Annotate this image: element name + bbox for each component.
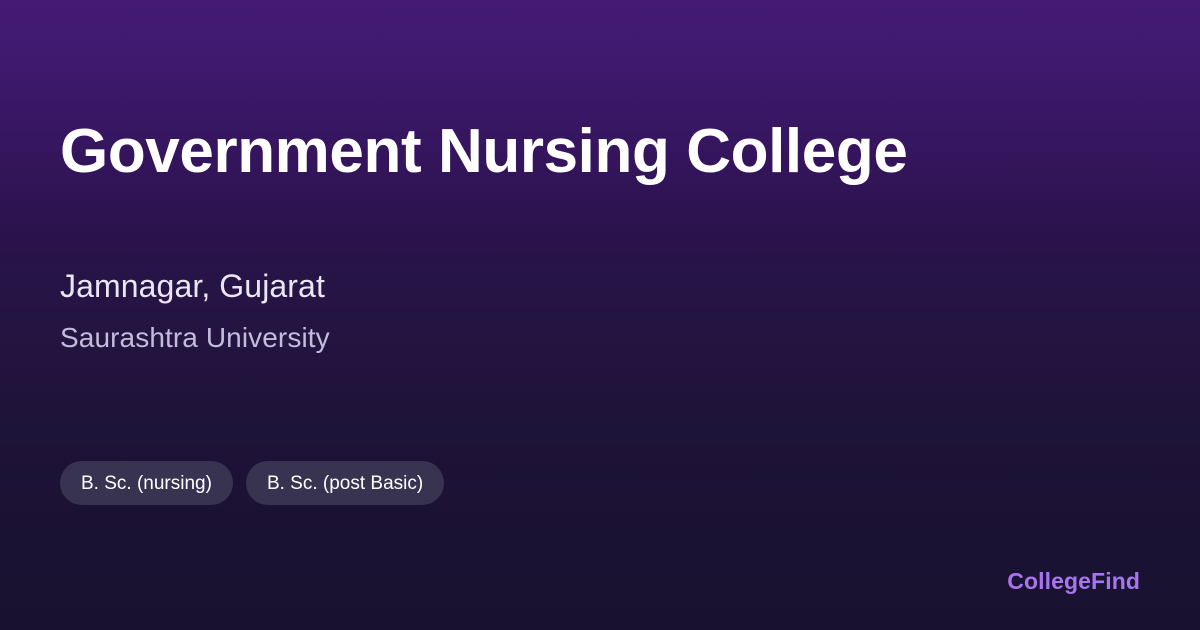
page-title: Government Nursing College <box>60 121 907 183</box>
program-chip-list: B. Sc. (nursing) B. Sc. (post Basic) <box>60 461 444 505</box>
college-location: Jamnagar, Gujarat <box>60 270 325 302</box>
affiliated-university: Saurashtra University <box>60 324 330 352</box>
program-chip[interactable]: B. Sc. (post Basic) <box>246 461 444 505</box>
program-chip[interactable]: B. Sc. (nursing) <box>60 461 233 505</box>
brand-logo-text[interactable]: CollegeFind <box>1007 570 1140 593</box>
college-info-card: Government Nursing College Jamnagar, Guj… <box>0 0 1200 630</box>
card-content: Government Nursing College Jamnagar, Guj… <box>60 0 1140 630</box>
